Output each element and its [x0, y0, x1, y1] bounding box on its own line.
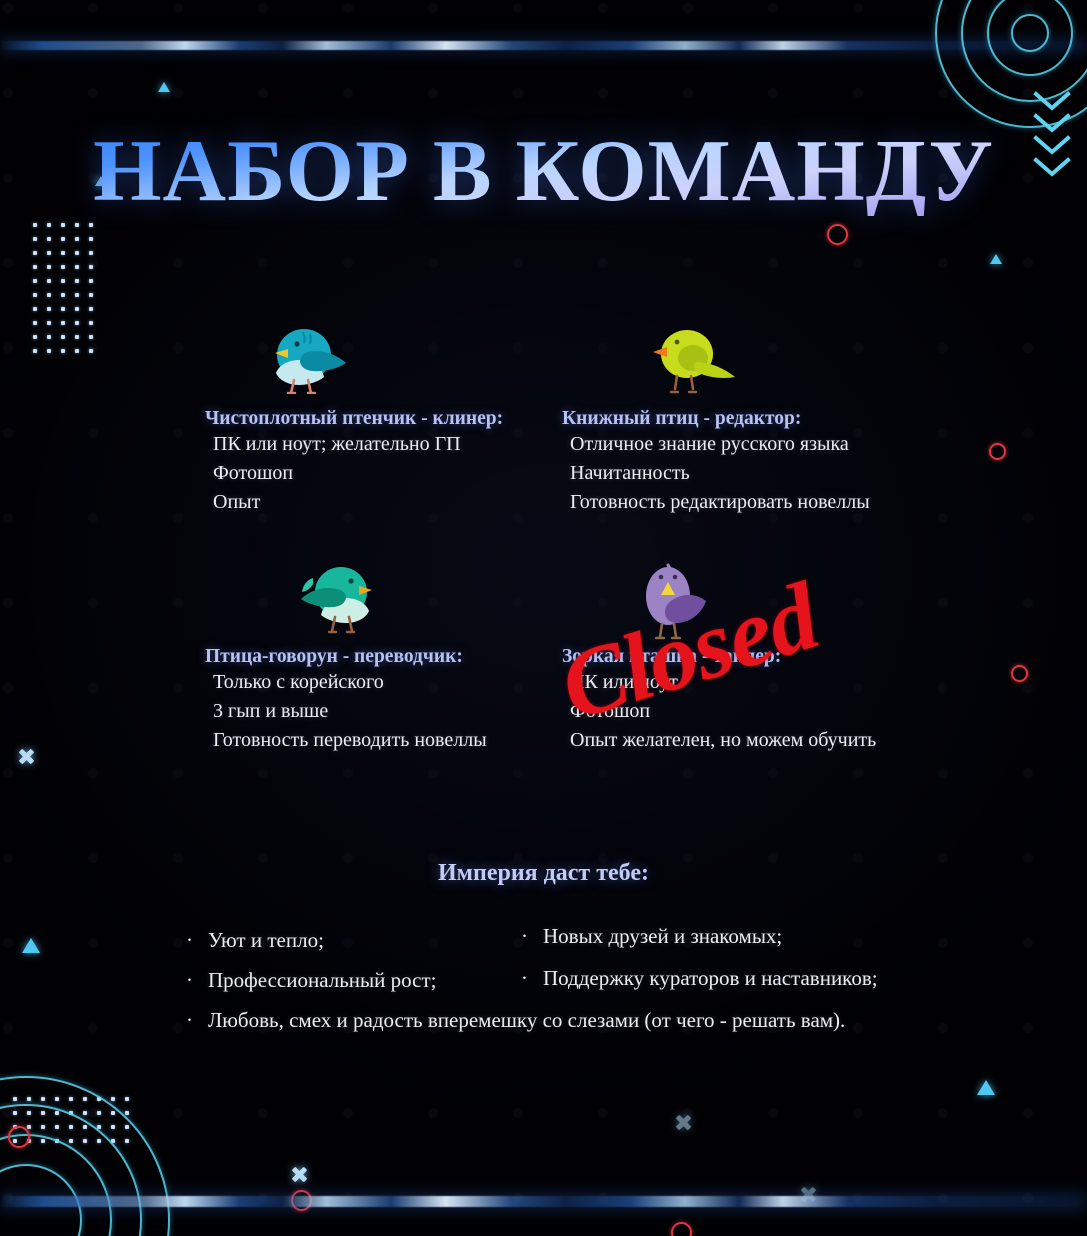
- perks-heading: Империя даст тебе:: [0, 860, 1087, 887]
- requirement-item: Опыт желателен, но можем обучить: [570, 726, 907, 755]
- triangle-marker-upper-right: [990, 254, 1002, 264]
- bullet-glyph: ·: [186, 928, 208, 953]
- x-marker-bottom-center: [674, 1113, 692, 1131]
- red-ring-marker-right-lower: [1011, 665, 1028, 682]
- job-title: Книжный птиц - редактор:: [562, 408, 902, 430]
- perk-item-5: ·Любовь, смех и радость вперемешку со сл…: [186, 1008, 845, 1033]
- requirement-item: Фотошоп: [570, 697, 907, 726]
- perk-label: Новых друзей и знакомых;: [543, 924, 782, 948]
- red-ring-marker-right-upper: [989, 443, 1006, 460]
- teal-bird-icon: [270, 322, 352, 399]
- requirement-item: 3 гып и выше: [213, 697, 535, 726]
- triangle-marker-lower-left: [22, 938, 40, 953]
- light-streak-bottom: [0, 1196, 1087, 1207]
- requirement-item: Готовность редактировать новеллы: [570, 488, 902, 517]
- requirement-item: Только с корейского: [213, 668, 535, 697]
- concentric-rings-bottom-left: [0, 1076, 182, 1236]
- job-block-editor: Книжный птиц - редактор: Отличное знание…: [562, 322, 902, 517]
- triangle-marker-top-left: [158, 82, 170, 92]
- dot-grid-left: [28, 218, 98, 358]
- bullet-glyph: ·: [186, 1008, 208, 1033]
- job-block-cleaner: Чистоплотный птенчик - клинер: ПК или но…: [205, 322, 535, 517]
- recruitment-poster: НАБОР В КОМАНДУ Чистоплотный птенчик - к…: [0, 0, 1087, 1236]
- perk-item-4: ·Поддержку кураторов и наставников;: [521, 966, 878, 991]
- requirement-item: Начитанность: [570, 459, 902, 488]
- job-title: Птица-говорун - переводчик:: [205, 646, 535, 668]
- requirement-item: ПК или ноут: [570, 668, 907, 697]
- requirement-item: Опыт: [213, 488, 535, 517]
- bullet-glyph: ·: [521, 924, 543, 949]
- perk-label: Поддержку кураторов и наставников;: [543, 966, 878, 990]
- job-requirements-list: Отличное знание русского языка Начитанно…: [562, 430, 902, 517]
- requirement-item: ПК или ноут; желательно ГП: [213, 430, 535, 459]
- job-title: Зоркая пташка - тайпер:: [562, 646, 907, 668]
- job-requirements-list: ПК или ноут Фотошоп Опыт желателен, но м…: [562, 668, 907, 755]
- job-block-translator: Птица-говорун - переводчик: Только с кор…: [205, 560, 535, 755]
- perk-item-2: ·Новых друзей и знакомых;: [521, 924, 782, 949]
- perk-label: Профессиональный рост;: [208, 968, 437, 992]
- red-ring-marker-bottom-left: [8, 1126, 30, 1148]
- job-title: Чистоплотный птенчик - клинер:: [205, 408, 535, 430]
- requirement-item: Фотошоп: [213, 459, 535, 488]
- requirement-item: Отличное знание русского языка: [570, 430, 902, 459]
- green-bird-icon: [297, 560, 377, 639]
- red-ring-marker-bottom: [291, 1190, 312, 1211]
- job-block-typer: Зоркая пташка - тайпер: ПК или ноут Фото…: [562, 560, 907, 755]
- requirement-item: Готовность переводить новеллы: [213, 726, 535, 755]
- perk-label: Любовь, смех и радость вперемешку со сле…: [208, 1008, 845, 1032]
- x-marker-bottom-right: [799, 1185, 817, 1203]
- job-requirements-list: ПК или ноут; желательно ГП Фотошоп Опыт: [205, 430, 535, 517]
- red-ring-marker-top: [827, 224, 848, 245]
- job-requirements-list: Только с корейского 3 гып и выше Готовно…: [205, 668, 535, 755]
- yellow-green-bird-icon: [647, 322, 739, 399]
- perk-item-3: ·Профессиональный рост;: [186, 968, 437, 993]
- page-title: НАБОР В КОМАНДУ: [0, 128, 1087, 216]
- purple-bird-icon: [634, 560, 714, 645]
- perk-label: Уют и тепло;: [208, 928, 324, 952]
- bullet-glyph: ·: [521, 966, 543, 991]
- perk-item-1: ·Уют и тепло;: [186, 928, 324, 953]
- x-marker-bottom-left: [290, 1165, 308, 1183]
- bullet-glyph: ·: [186, 968, 208, 993]
- triangle-marker-lower-right: [977, 1080, 995, 1095]
- red-ring-marker-bottom-center: [671, 1222, 692, 1236]
- x-marker-left: [17, 747, 35, 765]
- light-streak-top: [0, 41, 1087, 50]
- dot-grid-bottom-left: [8, 1092, 134, 1148]
